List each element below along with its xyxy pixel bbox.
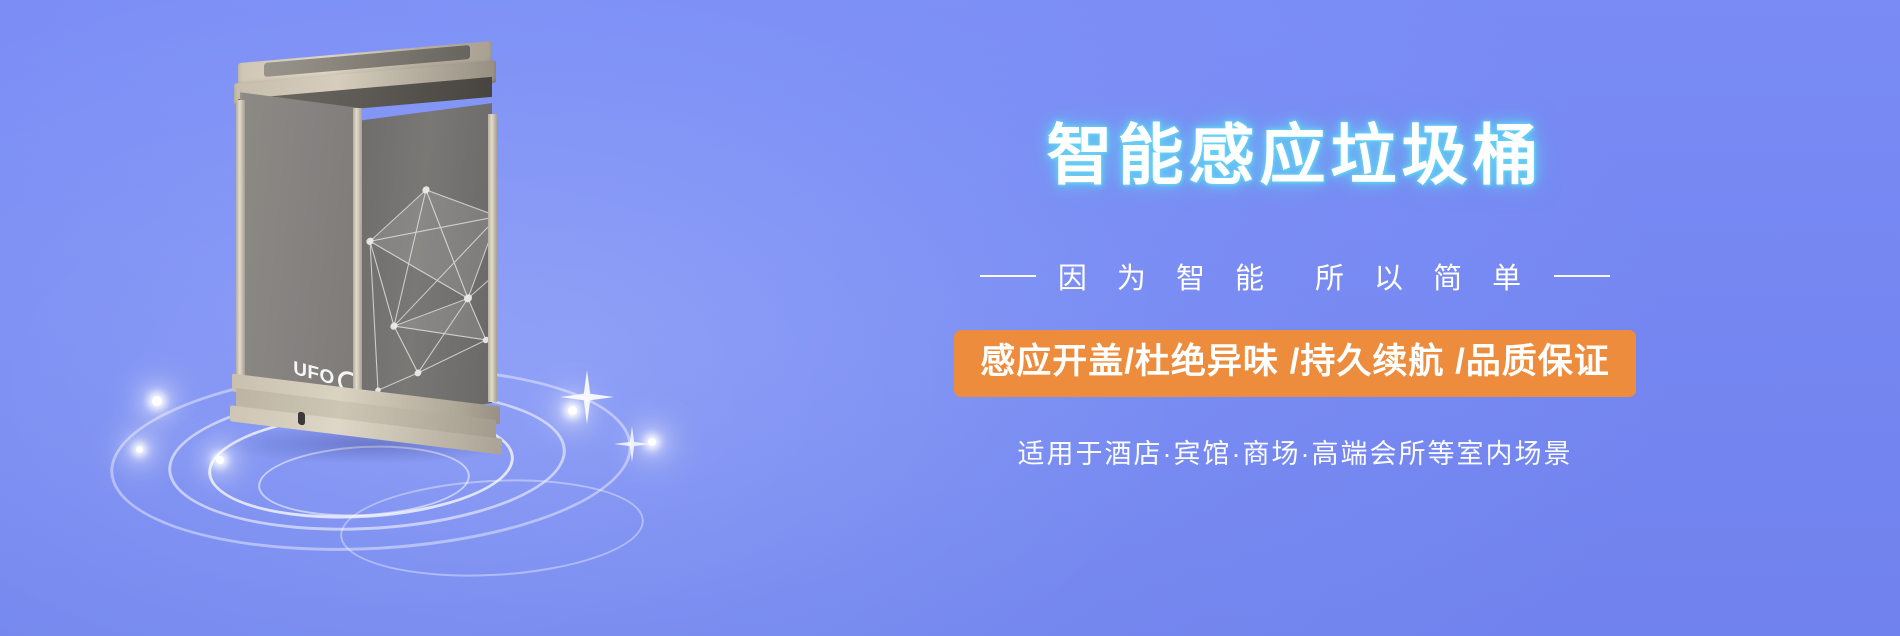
copy-block: 智能感应垃圾桶 因 为 智 能 所 以 简 单 感应开盖/杜绝异味 /持久续航 … <box>760 0 1900 636</box>
banner-subline: 因 为 智 能 所 以 简 单 <box>760 255 1830 297</box>
bin-base-port <box>298 412 305 426</box>
feature-badge-wrap: 感应开盖/杜绝异味 /持久续航 /品质保证 <box>760 330 1830 397</box>
product-image-trash-bin: UFO 优 福 欧 环 保 SMART INDUCTION TRASH CAN <box>220 52 510 442</box>
star-sparkle-icon <box>614 426 650 462</box>
banner-headline: 智能感应垃圾桶 <box>760 122 1830 188</box>
product-stage: UFO 优 福 欧 环 保 SMART INDUCTION TRASH CAN <box>60 30 760 590</box>
subline-dash-right <box>1554 275 1610 277</box>
sparkle-icon <box>152 396 162 406</box>
polygon-network-icon <box>358 158 492 412</box>
subline-text: 因 为 智 能 所 以 简 单 <box>1058 255 1532 297</box>
promo-banner: UFO 优 福 欧 环 保 SMART INDUCTION TRASH CAN <box>0 0 1900 636</box>
bin-edge-post-left <box>236 100 245 402</box>
banner-footnote: 适用于酒店·宾馆·商场·高端会所等室内场景 <box>760 432 1830 471</box>
bin-edge-post-center <box>353 108 362 420</box>
subline-dash-left <box>980 275 1036 277</box>
feature-badge: 感应开盖/杜绝异味 /持久续航 /品质保证 <box>954 330 1636 397</box>
sparkle-icon <box>136 446 143 453</box>
star-sparkle-icon <box>560 370 614 424</box>
bin-face-left: UFO 优 福 欧 环 保 SMART INDUCTION TRASH CAN <box>240 92 358 408</box>
bin-face-right <box>358 103 492 421</box>
bin-edge-post-right <box>488 114 497 402</box>
